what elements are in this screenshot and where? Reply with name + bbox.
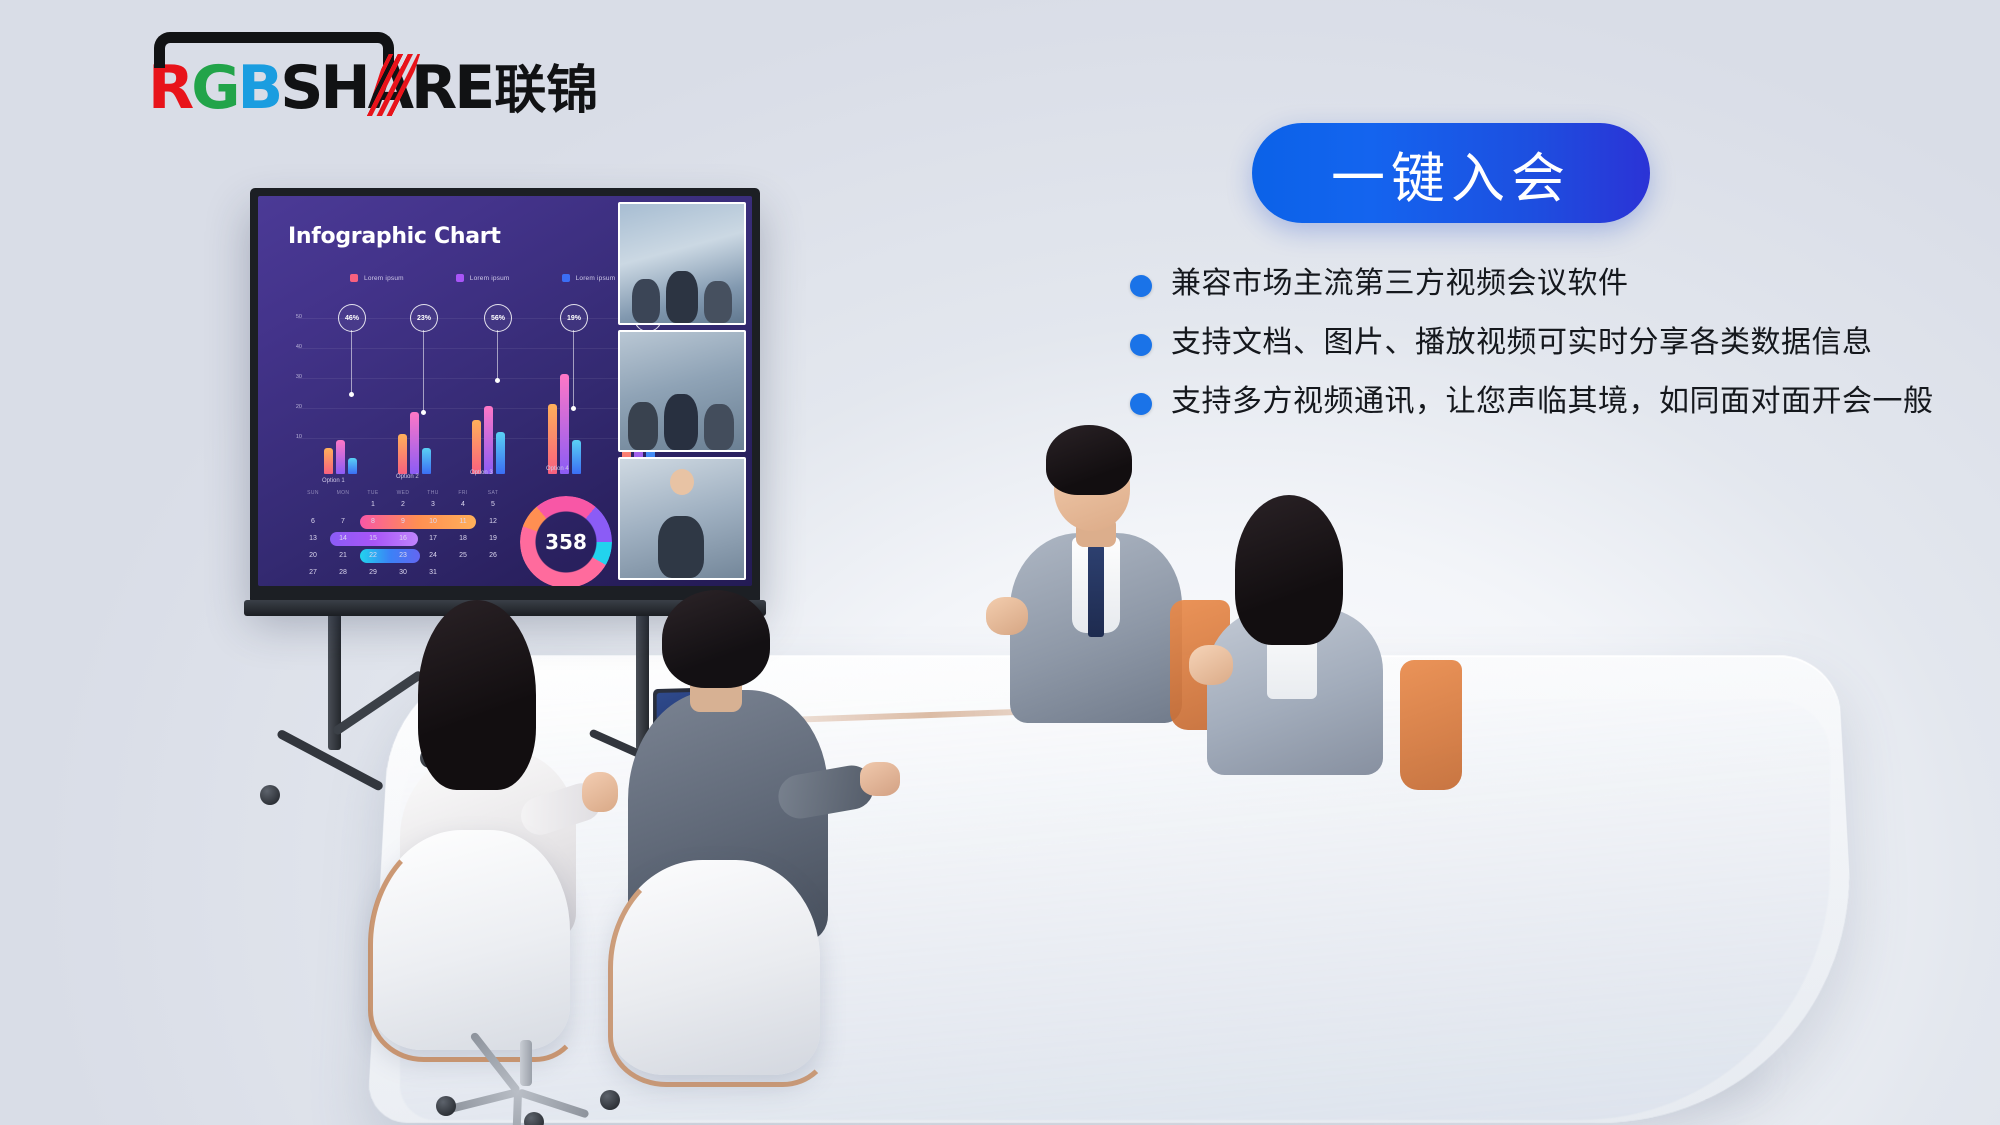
bar-series-3: [572, 440, 581, 474]
legend-entry: Lorem ipsum: [456, 274, 510, 282]
office-chair-center-trim: [608, 858, 832, 1087]
calendar-day[interactable]: 29: [358, 564, 388, 581]
participant-face: [670, 469, 694, 495]
chair-base-arm: [445, 1088, 519, 1114]
calendar-day[interactable]: 3: [418, 496, 448, 513]
bar-series-1: [548, 404, 557, 474]
calendar-day[interactable]: 9: [388, 513, 418, 530]
calendar-day[interactable]: 23: [388, 547, 418, 564]
calendar-day[interactable]: 1: [358, 496, 388, 513]
calendar-day[interactable]: 20: [298, 547, 328, 564]
chart-title: Infographic Chart: [288, 224, 501, 249]
chart-legend: Lorem ipsum Lorem ipsum Lorem ipsum: [350, 274, 615, 282]
attendee-hand: [986, 597, 1028, 635]
calendar-day[interactable]: 10: [418, 513, 448, 530]
participant-silhouette: [664, 394, 698, 450]
calendar-day[interactable]: 15: [358, 530, 388, 547]
bar-group: [324, 440, 357, 474]
legend-swatch-icon: [562, 274, 570, 282]
list-item: 支持文档、图片、播放视频可实时分享各类数据信息: [1130, 324, 1970, 362]
chair-far-right: [1400, 660, 1462, 790]
infographic-slide: Infographic Chart Lorem ipsum Lorem ipsu…: [258, 196, 752, 586]
bar-series-1: [398, 434, 407, 474]
calendar-day[interactable]: 8: [358, 513, 388, 530]
y-tick-label: 10: [296, 434, 302, 440]
brand-logo: R G B SHARE 联锦: [148, 58, 598, 118]
chair-base-star: [452, 1076, 602, 1110]
legend-entry: Lorem ipsum: [562, 274, 616, 282]
feature-text: 支持多方视频通讯，让您声临其境，如同面对面开会一般: [1171, 383, 1934, 421]
legend-swatch-icon: [350, 274, 358, 282]
video-tile-column: [618, 202, 746, 580]
calendar-day[interactable]: 12: [478, 513, 508, 530]
chair-caster-icon: [436, 1096, 456, 1116]
one-click-join-button[interactable]: 一键入会: [1252, 123, 1650, 223]
calendar-day[interactable]: 2: [388, 496, 418, 513]
bar-group: [472, 406, 505, 474]
calendar-day[interactable]: [328, 496, 358, 513]
logo-share-label: SHARE: [280, 53, 492, 123]
attendee-hand: [860, 762, 900, 796]
feature-text: 兼容市场主流第三方视频会议软件: [1171, 265, 1629, 303]
x-tick-label: Option 1: [322, 478, 345, 484]
attendee-hand: [582, 772, 618, 812]
participant-silhouette: [666, 271, 698, 323]
list-item: 兼容市场主流第三方视频会议软件: [1130, 265, 1970, 303]
bar-series-3: [348, 458, 357, 474]
calendar-day[interactable]: 28: [328, 564, 358, 581]
chair-caster-icon: [524, 1112, 544, 1125]
stand-caster-icon: [260, 785, 280, 805]
attendee-far-left: [1010, 425, 1185, 715]
calendar-day[interactable]: 5: [478, 496, 508, 513]
calendar-day[interactable]: 25: [448, 547, 478, 564]
x-tick-label: Option 4: [546, 466, 569, 472]
feature-text: 支持文档、图片、播放视频可实时分享各类数据信息: [1171, 324, 1873, 362]
display-screen[interactable]: Infographic Chart Lorem ipsum Lorem ipsu…: [258, 196, 752, 586]
logo-mark: R G B SHARE 联锦: [148, 58, 598, 118]
x-tick-label: Option 3: [470, 470, 493, 476]
donut-chart: 358: [520, 496, 612, 586]
legend-label: Lorem ipsum: [470, 275, 510, 282]
bar-series-2: [560, 374, 569, 474]
calendar-day[interactable]: 4: [448, 496, 478, 513]
bar-series-3: [496, 432, 505, 474]
attendee-hair: [418, 600, 536, 790]
y-tick-label: 20: [296, 404, 302, 410]
calendar-day[interactable]: 30: [388, 564, 418, 581]
donut-center-value: 358: [520, 496, 612, 586]
attendee-hand: [1189, 645, 1233, 685]
bullet-dot-icon: [1130, 334, 1152, 356]
feature-list: 兼容市场主流第三方视频会议软件 支持文档、图片、播放视频可实时分享各类数据信息 …: [1130, 265, 1970, 441]
y-tick-label: 30: [296, 374, 302, 380]
calendar-day[interactable]: 14: [328, 530, 358, 547]
calendar-week-row: 1 2 3 4 5: [298, 496, 508, 513]
bar-series-2: [410, 412, 419, 474]
video-tile-participant-group-2[interactable]: [618, 330, 746, 453]
calendar-day[interactable]: 16: [388, 530, 418, 547]
video-tile-participant-solo[interactable]: [618, 457, 746, 580]
bar-group: [398, 412, 431, 474]
bar-series-2: [484, 406, 493, 474]
calendar-day[interactable]: 6: [298, 513, 328, 530]
calendar-day[interactable]: 17: [418, 530, 448, 547]
one-click-join-label: 一键入会: [1331, 134, 1571, 213]
logo-text-share: SHARE: [280, 58, 492, 118]
calendar-week-row: 20 21 22 23 24 25 26: [298, 547, 508, 564]
legend-swatch-icon: [456, 274, 464, 282]
participant-silhouette: [658, 516, 704, 578]
legend-entry: Lorem ipsum: [350, 274, 404, 282]
bar-series-1: [472, 420, 481, 474]
video-tile-participant-group-1[interactable]: [618, 202, 746, 325]
calendar-day[interactable]: 11: [448, 513, 478, 530]
attendee-far-right: [1205, 495, 1390, 770]
participant-silhouette: [704, 281, 732, 323]
calendar-day[interactable]: 19: [478, 530, 508, 547]
calendar-week-row: 6 7 8 9 10 11 12: [298, 513, 508, 530]
participant-silhouette: [628, 402, 658, 450]
calendar-day[interactable]: 24: [418, 547, 448, 564]
bullet-dot-icon: [1130, 275, 1152, 297]
list-item: 支持多方视频通讯，让您声临其境，如同面对面开会一般: [1130, 383, 1970, 421]
calendar-widget[interactable]: SUN MON TUE WED THU FRI SAT 1 2: [298, 490, 508, 586]
attendee-tie: [1088, 545, 1104, 637]
attendee-hair: [662, 590, 770, 688]
legend-label: Lorem ipsum: [364, 275, 404, 282]
bar-series-1: [324, 448, 333, 474]
calendar-day[interactable]: 18: [448, 530, 478, 547]
bar-group: [548, 374, 581, 474]
calendar-day[interactable]: 31: [418, 564, 448, 581]
chart-y-axis: 50 40 30 20 10: [280, 314, 302, 464]
calendar-day[interactable]: [298, 496, 328, 513]
logo-chinese-name: 联锦: [494, 65, 598, 117]
bar-series-3: [422, 448, 431, 474]
bullet-dot-icon: [1130, 393, 1152, 415]
participant-silhouette: [632, 279, 660, 323]
calendar-day[interactable]: 26: [478, 547, 508, 564]
calendar-week-row: 13 14 15 16 17 18 19: [298, 530, 508, 547]
calendar-day[interactable]: 21: [328, 547, 358, 564]
y-tick-label: 40: [296, 344, 302, 350]
chair-caster-icon: [600, 1090, 620, 1110]
display-bezel: Infographic Chart Lorem ipsum Lorem ipsu…: [250, 188, 760, 602]
calendar-day[interactable]: [478, 564, 508, 581]
x-tick-label: Option 2: [396, 474, 419, 480]
participant-silhouette: [704, 404, 734, 450]
attendee-hair: [1235, 495, 1343, 645]
attendee-hair: [1046, 425, 1132, 495]
calendar-day[interactable]: 22: [358, 547, 388, 564]
legend-label: Lorem ipsum: [576, 275, 616, 282]
slide-canvas: R G B SHARE 联锦 一键入会 兼容市场主流第三方视频会议软件 支持文档…: [0, 0, 2000, 1125]
calendar-day[interactable]: 7: [328, 513, 358, 530]
office-chair-left-trim: [368, 828, 582, 1062]
calendar-day[interactable]: 27: [298, 564, 328, 581]
y-tick-label: 50: [296, 314, 302, 320]
bar-series-2: [336, 440, 345, 474]
calendar-day[interactable]: [448, 564, 478, 581]
calendar-week-row: 27 28 29 30 31: [298, 564, 508, 581]
interactive-display[interactable]: Infographic Chart Lorem ipsum Lorem ipsu…: [250, 188, 760, 602]
calendar-day[interactable]: 13: [298, 530, 328, 547]
